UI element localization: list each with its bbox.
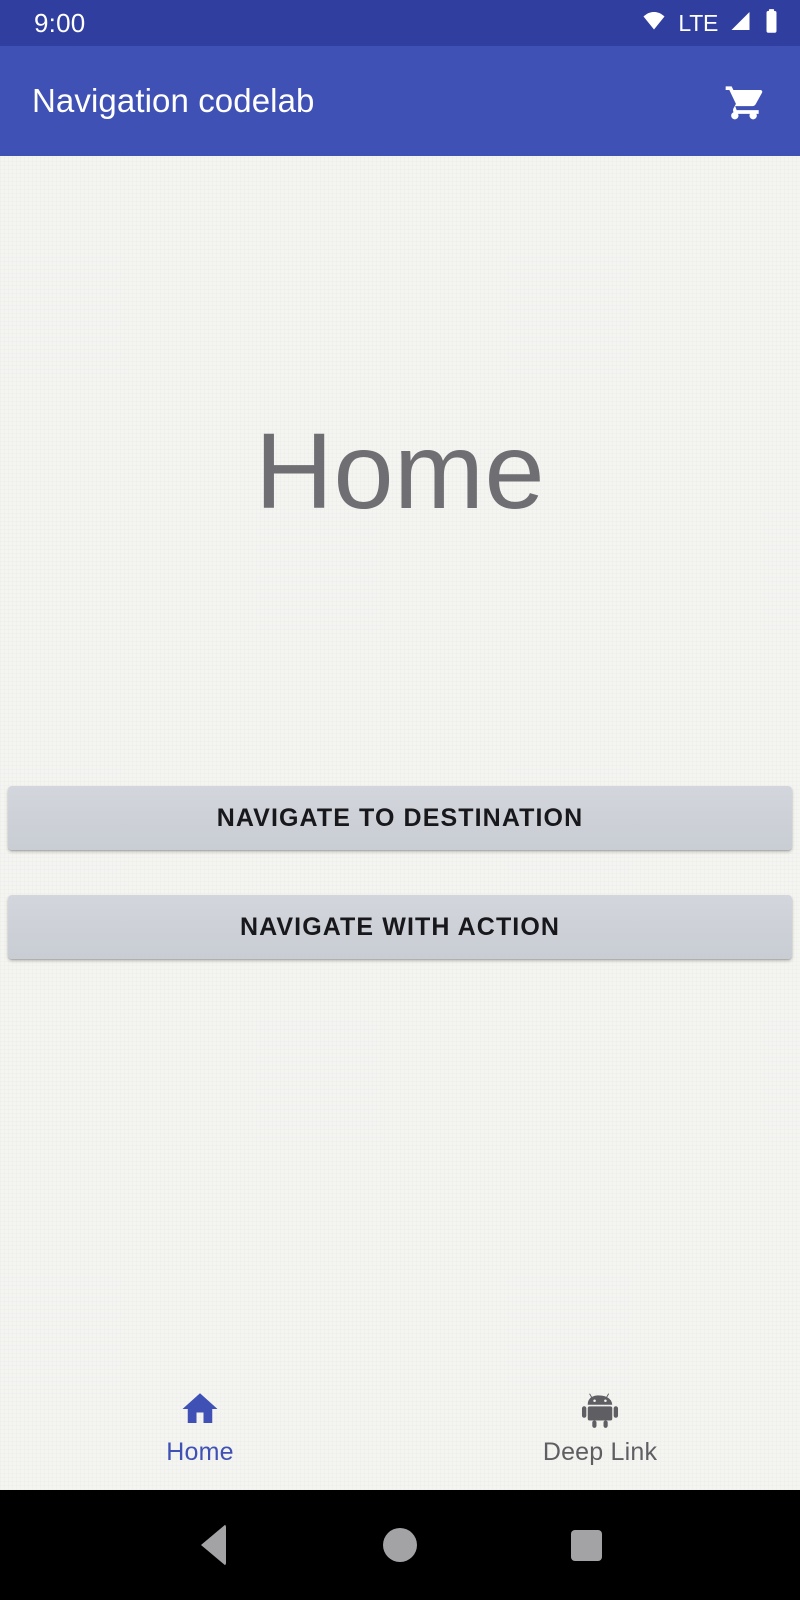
square-recents-icon (571, 1530, 602, 1561)
recents-button[interactable] (552, 1510, 622, 1580)
bottom-nav-item-home[interactable]: Home (0, 1360, 400, 1490)
status-bar-clock: 9:00 (34, 10, 85, 36)
battery-icon (763, 8, 780, 39)
hero-section: Home (0, 156, 800, 786)
wifi-icon (639, 9, 669, 38)
content-area: Home NAVIGATE TO DESTINATION NAVIGATE WI… (0, 156, 800, 1490)
app-bar-title: Navigation codelab (32, 82, 315, 120)
shopping-cart-icon[interactable] (712, 69, 776, 133)
cellular-signal-icon (727, 9, 754, 38)
bottom-navigation-bar: Home (0, 1360, 800, 1490)
navigate-with-action-button[interactable]: NAVIGATE WITH ACTION (8, 895, 792, 959)
lte-label: LTE (678, 12, 718, 35)
bottom-nav-label-deep-link: Deep Link (543, 1440, 657, 1465)
home-button[interactable] (365, 1510, 435, 1580)
page-title: Home (255, 417, 545, 525)
home-icon (179, 1386, 221, 1430)
triangle-back-icon (201, 1524, 226, 1566)
bottom-nav-item-deep-link[interactable]: Deep Link (400, 1360, 800, 1490)
action-button-stack: NAVIGATE TO DESTINATION NAVIGATE WITH AC… (0, 786, 800, 959)
android-robot-icon (579, 1386, 621, 1430)
status-bar: 9:00 LTE (0, 0, 800, 46)
circle-home-icon (383, 1528, 417, 1562)
bottom-nav-label-home: Home (166, 1440, 234, 1465)
app-bar: Navigation codelab (0, 46, 800, 156)
system-navigation-bar (0, 1490, 800, 1600)
back-button[interactable] (178, 1510, 248, 1580)
phone-screen: 9:00 LTE Navigation codelab (0, 0, 800, 1600)
navigate-to-destination-button[interactable]: NAVIGATE TO DESTINATION (8, 786, 792, 850)
status-bar-icons: LTE (639, 8, 780, 39)
